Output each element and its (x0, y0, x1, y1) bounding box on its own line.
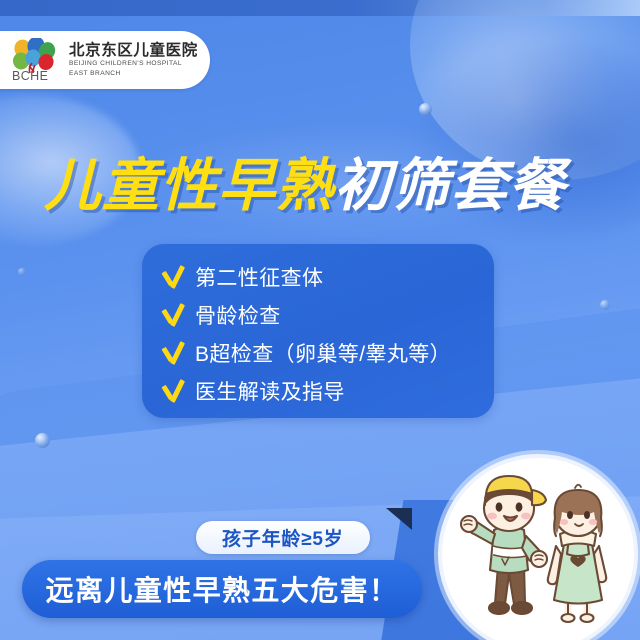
svg-text:BCHE: BCHE (12, 69, 48, 82)
dark-ribbon-corner (386, 508, 412, 530)
checklist-item: 骨龄检查 (160, 297, 494, 333)
bubble-decoration (419, 103, 432, 116)
age-requirement-text: 孩子年龄≥5岁 (222, 524, 344, 551)
poster-canvas: BCHE 北京东区儿童医院 BEIJING CHILDREN'S HOSPITA… (0, 0, 640, 640)
checklist-item: 医生解读及指导 (160, 373, 494, 409)
bottom-banner-text: 远离儿童性早熟五大危害！ (46, 569, 399, 609)
headline-highlight: 儿童性早熟 (44, 154, 334, 218)
hospital-name-cn: 北京东区儿童医院 (69, 42, 198, 59)
checklist-item: B超检查（卵巢等/睾丸等） (160, 335, 494, 371)
hospital-name-en-line1: BEIJING CHILDREN'S HOSPITAL (69, 59, 198, 68)
bubble-decoration (18, 268, 26, 276)
balloon-cluster-logo-icon: BCHE (12, 38, 62, 82)
check-mark-icon (160, 302, 186, 328)
bottom-banner: 远离儿童性早熟五大危害！ (22, 560, 422, 618)
hospital-logo-plate: BCHE 北京东区儿童医院 BEIJING CHILDREN'S HOSPITA… (0, 31, 210, 89)
checklist-item-label: 骨龄检查 (195, 300, 281, 330)
check-mark-icon (160, 340, 186, 366)
check-mark-icon (160, 264, 186, 290)
checklist-item-label: 医生解读及指导 (195, 376, 345, 406)
checklist-item: 第二性征查体 (160, 259, 494, 295)
headline-title: 儿童性早熟初筛套餐 (44, 158, 604, 215)
bubble-decoration (35, 433, 50, 448)
hospital-name-en-line2: EAST BRANCH (69, 69, 198, 78)
check-mark-icon (160, 378, 186, 404)
checklist-item-label: 第二性征查体 (195, 262, 323, 292)
headline-rest: 初筛套餐 (334, 154, 566, 218)
service-checklist-panel: 第二性征查体 骨龄检查 B超检查（卵巢等/睾丸等） 医生解读及指导 (142, 244, 494, 418)
checklist-item-label: B超检查（卵巢等/睾丸等） (195, 338, 451, 368)
age-requirement-pill: 孩子年龄≥5岁 (196, 521, 370, 554)
two-children-illustration (438, 454, 638, 640)
hospital-name-block: 北京东区儿童医院 BEIJING CHILDREN'S HOSPITAL EAS… (69, 42, 198, 78)
bubble-decoration (600, 300, 610, 310)
